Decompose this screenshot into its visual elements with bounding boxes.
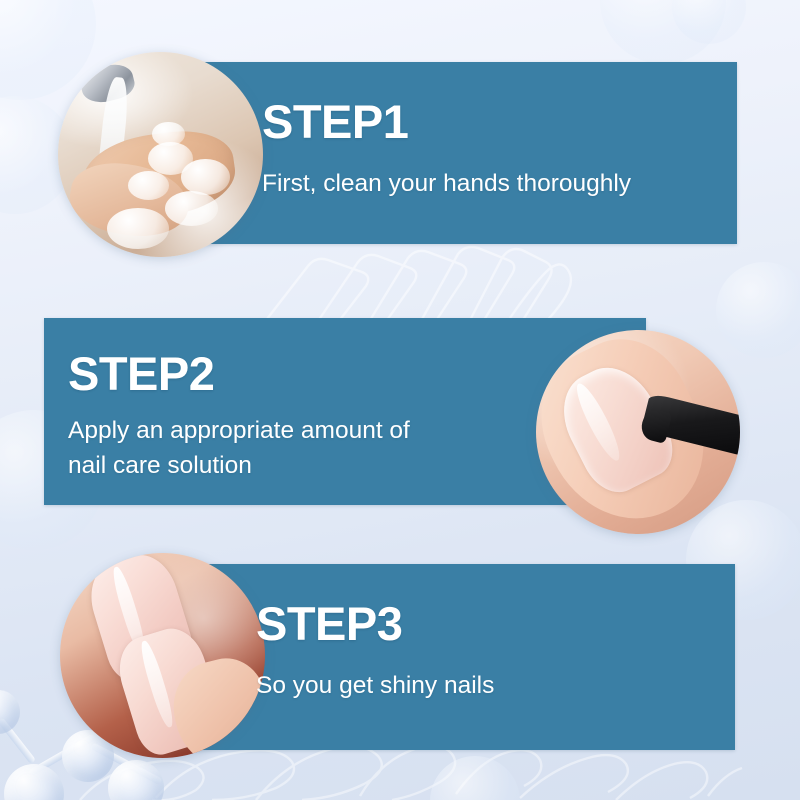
background-bubble (672, 0, 746, 44)
step-image-1 (58, 52, 263, 257)
foam-bubble (128, 171, 169, 200)
background-bubble (430, 756, 520, 800)
molecule-link (0, 717, 36, 764)
molecule-node-bubble (0, 690, 20, 734)
hand-outline-watermark-top (250, 232, 590, 332)
photo-content (536, 330, 740, 534)
step-title-1: STEP1 (262, 98, 408, 145)
step-image-3 (60, 553, 265, 758)
foam-bubble (165, 191, 218, 226)
molecule-node-bubble (108, 760, 164, 800)
step-title-2: STEP2 (68, 350, 214, 397)
photo-content (60, 553, 265, 758)
foam-bubble (152, 122, 185, 147)
foam-bubble (107, 208, 169, 249)
instruction-poster: STEP1 First, clean your hands thoroughly… (0, 0, 800, 800)
step-description-3: So you get shiny nails (256, 670, 716, 702)
step-description-1: First, clean your hands thoroughly (262, 168, 732, 200)
molecule-node-bubble (4, 764, 64, 800)
background-bubble (600, 0, 726, 64)
step-title-3: STEP3 (256, 600, 402, 647)
step-description-2-line-1: Apply an appropriate amount of (68, 415, 528, 447)
photo-content (58, 52, 263, 257)
step-description-2-line-2: nail care solution (68, 450, 528, 482)
step-image-2 (536, 330, 740, 534)
